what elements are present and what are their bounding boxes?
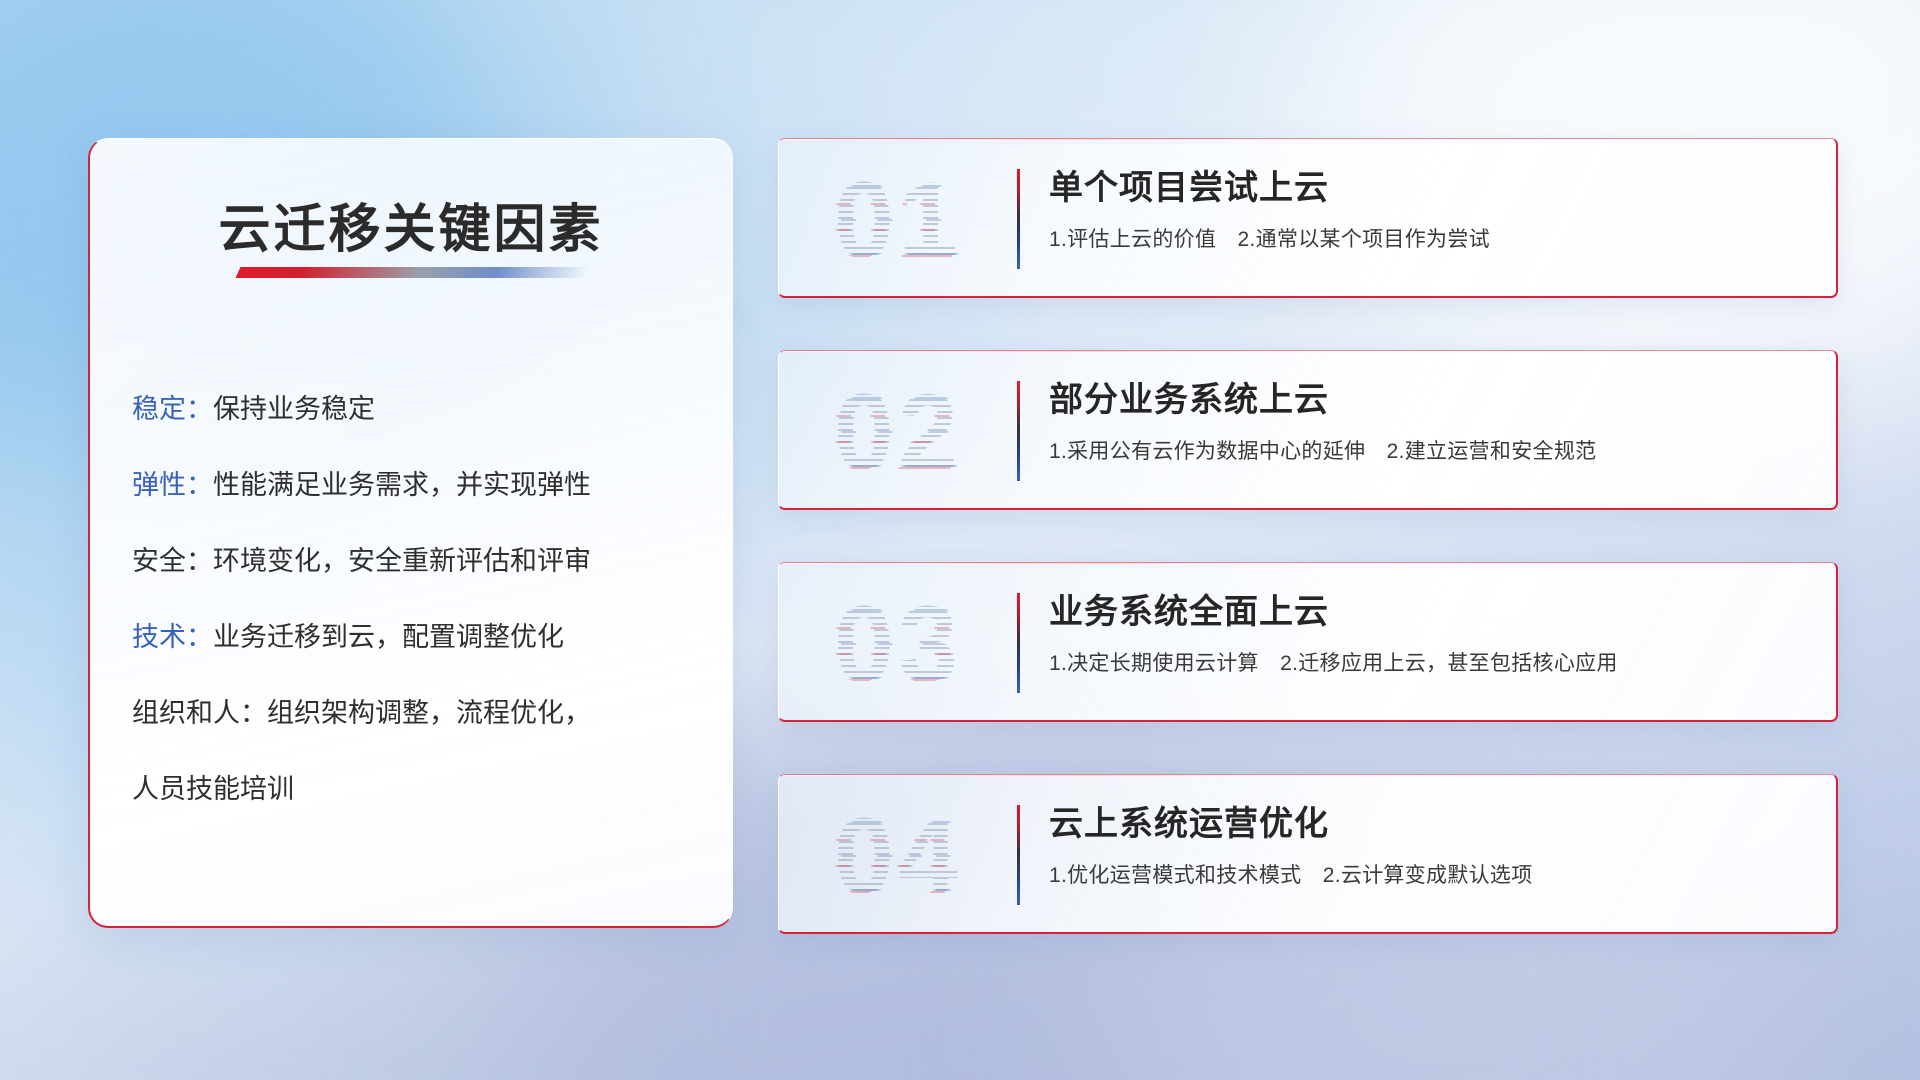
step-divider-bar (1017, 805, 1020, 905)
step-number: 02 02 02 (803, 363, 993, 499)
key-factors-panel: 云迁移关键因素 稳定：保持业务稳定 弹性：性能满足业务需求，并实现弹性 安全：环… (88, 138, 733, 928)
list-item: 技术：业务迁移到云，配置调整优化 (132, 599, 702, 675)
list-item: 稳定：保持业务稳定 (132, 371, 702, 447)
step-card[interactable]: 03 03 03 业务系统全面上云 1.决定长期使用云计算 2.迁移应用上云，甚… (778, 562, 1838, 722)
step-number-glitch-blue: 02 (806, 363, 996, 499)
step-description: 1.评估上云的价值 2.通常以某个项目作为尝试 (1049, 223, 1812, 253)
step-body: 业务系统全面上云 1.决定长期使用云计算 2.迁移应用上云，甚至包括核心应用 (1049, 589, 1812, 677)
factor-text: 环境变化，安全重新评估和评审 (213, 546, 591, 576)
step-heading: 云上系统运营优化 (1049, 801, 1812, 847)
factor-text: 人员技能培训 (132, 774, 294, 804)
step-number-glitch-blue: 03 (806, 575, 996, 711)
factor-label: 技术： (132, 622, 213, 652)
list-item: 安全：环境变化，安全重新评估和评审 (132, 523, 702, 599)
step-description: 1.优化运营模式和技术模式 2.云计算变成默认选项 (1049, 859, 1812, 889)
migration-steps-list: 01 01 01 单个项目尝试上云 1.评估上云的价值 2.通常以某个项目作为尝… (778, 138, 1838, 986)
factor-label: 弹性： (132, 470, 213, 500)
title-underline-accent (236, 267, 591, 278)
step-card[interactable]: 01 01 01 单个项目尝试上云 1.评估上云的价值 2.通常以某个项目作为尝… (778, 138, 1838, 298)
page-title: 云迁移关键因素 (90, 187, 732, 262)
step-number: 03 03 03 (803, 575, 993, 711)
list-item: 人员技能培训 (132, 751, 702, 827)
step-heading: 单个项目尝试上云 (1049, 165, 1812, 211)
step-description: 1.采用公有云作为数据中心的延伸 2.建立运营和安全规范 (1049, 435, 1812, 465)
step-body: 单个项目尝试上云 1.评估上云的价值 2.通常以某个项目作为尝试 (1049, 165, 1812, 253)
factor-label: 组织和人： (132, 698, 267, 728)
factor-text: 组织架构调整，流程优化， (267, 698, 591, 728)
step-number: 01 01 01 (803, 151, 993, 287)
factor-list: 稳定：保持业务稳定 弹性：性能满足业务需求，并实现弹性 安全：环境变化，安全重新… (132, 371, 702, 827)
factor-text: 保持业务稳定 (213, 394, 375, 424)
step-number-glitch-blue: 04 (806, 787, 996, 923)
step-body: 云上系统运营优化 1.优化运营模式和技术模式 2.云计算变成默认选项 (1049, 801, 1812, 889)
factor-text: 性能满足业务需求，并实现弹性 (213, 470, 591, 500)
step-divider-bar (1017, 169, 1020, 269)
step-divider-bar (1017, 593, 1020, 693)
factor-label: 安全： (132, 546, 213, 576)
step-number-glitch-blue: 01 (806, 151, 996, 287)
step-card[interactable]: 04 04 04 云上系统运营优化 1.优化运营模式和技术模式 2.云计算变成默… (778, 774, 1838, 934)
step-heading: 业务系统全面上云 (1049, 589, 1812, 635)
step-heading: 部分业务系统上云 (1049, 377, 1812, 423)
factor-text: 业务迁移到云，配置调整优化 (213, 622, 564, 652)
list-item: 弹性：性能满足业务需求，并实现弹性 (132, 447, 702, 523)
step-divider-bar (1017, 381, 1020, 481)
step-body: 部分业务系统上云 1.采用公有云作为数据中心的延伸 2.建立运营和安全规范 (1049, 377, 1812, 465)
list-item: 组织和人：组织架构调整，流程优化， (132, 675, 702, 751)
step-number: 04 04 04 (803, 787, 993, 923)
factor-label: 稳定： (132, 394, 213, 424)
step-description: 1.决定长期使用云计算 2.迁移应用上云，甚至包括核心应用 (1049, 647, 1812, 677)
step-card[interactable]: 02 02 02 部分业务系统上云 1.采用公有云作为数据中心的延伸 2.建立运… (778, 350, 1838, 510)
